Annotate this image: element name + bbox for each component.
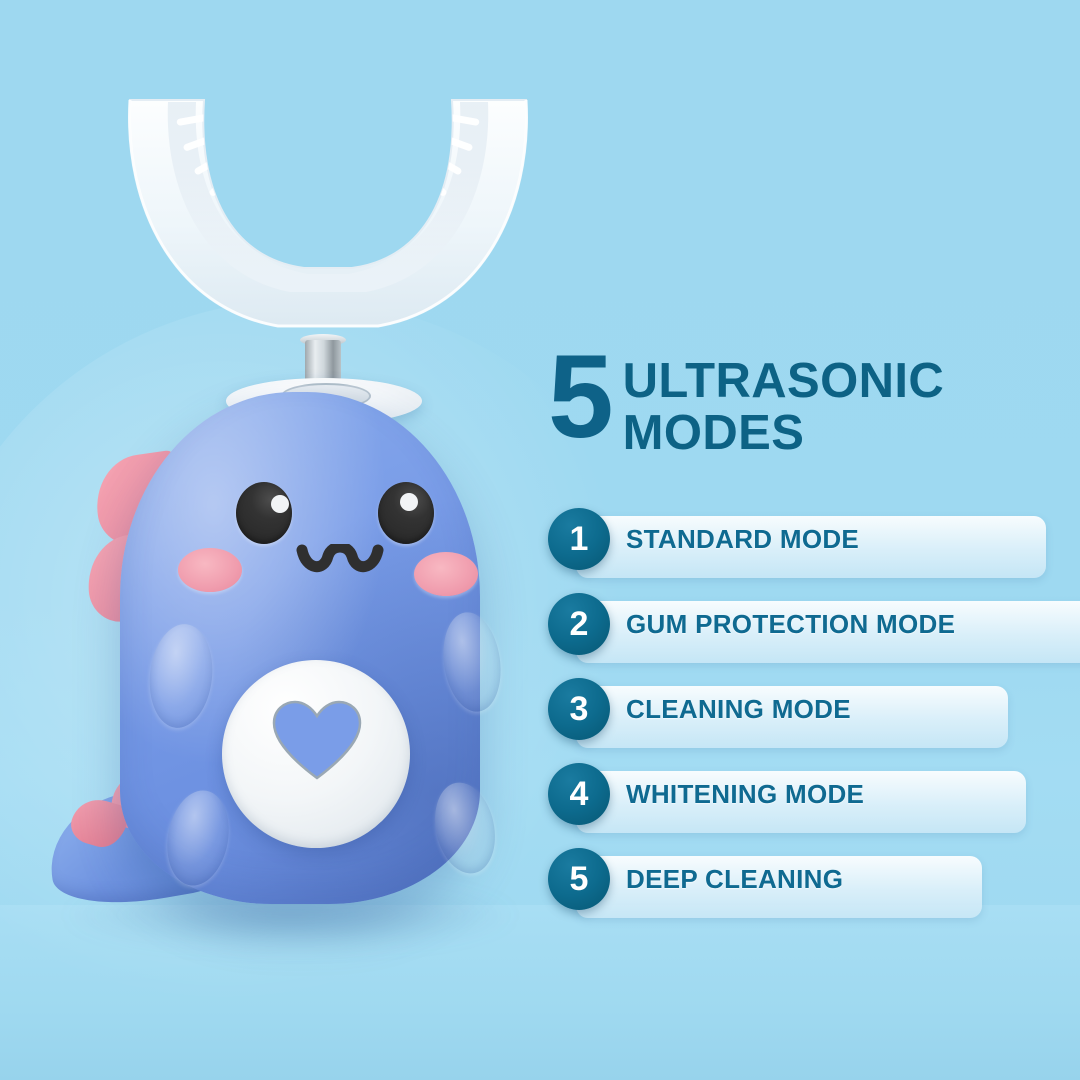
mode-row[interactable]: 2 GUM PROTECTION MODE <box>548 593 1068 678</box>
cheek-blush-right <box>414 552 478 596</box>
cheek-blush-left <box>178 548 242 592</box>
eye-right <box>378 482 434 544</box>
headline: 5 ULTRASONIC MODES <box>548 348 1048 460</box>
mode-number-badge: 3 <box>548 678 610 740</box>
modes-list: 1 STANDARD MODE 2 GUM PROTECTION MODE 3 … <box>548 508 1068 933</box>
eye-left <box>236 482 292 544</box>
mode-row[interactable]: 1 STANDARD MODE <box>548 508 1068 593</box>
mode-row[interactable]: 4 WHITENING MODE <box>548 763 1068 848</box>
eye-highlight-left <box>271 495 289 513</box>
mode-number-badge: 4 <box>548 763 610 825</box>
u-shaped-brush-head-icon <box>108 86 548 346</box>
mode-number-badge: 2 <box>548 593 610 655</box>
mode-label: WHITENING MODE <box>626 763 864 825</box>
smile-mouth-icon <box>296 544 384 578</box>
mode-row[interactable]: 3 CLEANING MODE <box>548 678 1068 763</box>
mode-number-badge: 1 <box>548 508 610 570</box>
mode-row[interactable]: 5 DEEP CLEANING <box>548 848 1068 933</box>
headline-line-1: ULTRASONIC <box>623 356 945 408</box>
heart-power-button-icon[interactable] <box>272 700 362 782</box>
headline-line-2: MODES <box>623 408 945 460</box>
mode-label: GUM PROTECTION MODE <box>626 593 955 655</box>
eye-highlight-right <box>400 493 418 511</box>
mode-label: CLEANING MODE <box>626 678 851 740</box>
mode-label: DEEP CLEANING <box>626 848 843 910</box>
headline-words: ULTRASONIC MODES <box>623 348 945 460</box>
product-infographic: 5 ULTRASONIC MODES 1 STANDARD MODE 2 GUM… <box>0 0 1080 1080</box>
product-photo <box>0 0 560 1000</box>
mode-number-badge: 5 <box>548 848 610 910</box>
headline-number: 5 <box>548 348 611 447</box>
mode-label: STANDARD MODE <box>626 508 859 570</box>
